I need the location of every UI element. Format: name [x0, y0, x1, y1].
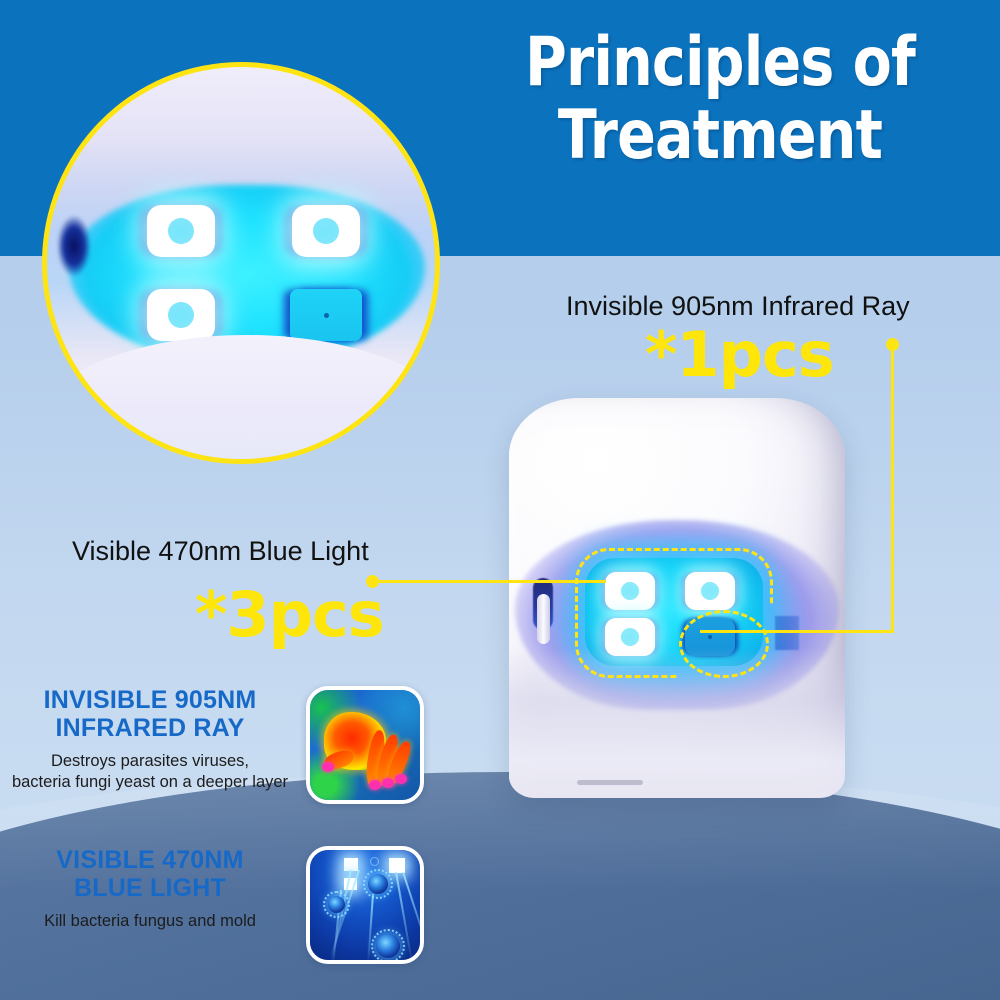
thermal-hand-thumbnail	[306, 686, 424, 804]
feature-card-infrared-title: INVISIBLE 905NM INFRARED RAY	[0, 686, 300, 742]
magnified-infrared-led	[290, 289, 362, 341]
infographic-canvas: Principles of Treatment Invisible 905nm …	[0, 0, 1000, 1000]
feature-card-infrared-description: Destroys parasites viruses, bacteria fun…	[0, 751, 300, 793]
feature-card-blue-light-title: VISIBLE 470NM BLUE LIGHT	[0, 846, 300, 902]
infrared-leader-line-horizontal	[700, 630, 894, 633]
magnified-blue-led-3	[147, 289, 215, 341]
feature-desc-line-1: Destroys parasites viruses,	[0, 751, 300, 772]
feature-card-blue-light: VISIBLE 470NM BLUE LIGHT Kill bacteria f…	[0, 846, 430, 964]
feature-card-infrared-text: INVISIBLE 905NM INFRARED RAY Destroys pa…	[0, 686, 306, 793]
page-title: Principles of Treatment	[502, 26, 939, 173]
feature-title-line-1: VISIBLE 470NM	[0, 846, 300, 874]
germ-particle-2	[368, 874, 388, 894]
germ-particle-1	[328, 896, 345, 913]
hand-nail-2	[382, 778, 394, 788]
hand-nail-thumb	[322, 762, 334, 772]
device-side-slot-right	[775, 616, 799, 650]
feature-desc-line-2: bacteria fungi yeast on a deeper layer	[0, 772, 300, 793]
feature-card-infrared: INVISIBLE 905NM INFRARED RAY Destroys pa…	[0, 686, 430, 804]
magnifier-side-notch	[57, 215, 91, 277]
thermal-hand-shape	[322, 706, 410, 798]
infrared-leader-line-vertical	[891, 344, 894, 632]
magnified-blue-led-1	[147, 205, 215, 257]
blue-light-callout-label: Visible 470nm Blue Light	[72, 536, 369, 567]
infrared-led-highlight-outline	[679, 610, 769, 678]
feature-title-line-1: INVISIBLE 905NM	[0, 686, 300, 714]
lens-flare-icon	[370, 857, 379, 866]
hand-nail-3	[395, 774, 407, 784]
magnified-led-panel-inset	[42, 62, 440, 464]
feature-card-blue-light-text: VISIBLE 470NM BLUE LIGHT Kill bacteria f…	[0, 846, 306, 932]
treatment-device	[497, 398, 857, 816]
feature-title-line-2: INFRARED RAY	[0, 714, 300, 742]
blue-light-leader-dot	[366, 575, 379, 588]
device-side-stick	[537, 594, 550, 644]
blue-lamp-3	[389, 858, 405, 873]
hand-nail-1	[369, 780, 381, 790]
blue-light-callout-count: *3pcs	[195, 578, 384, 651]
feature-card-blue-light-description: Kill bacteria fungus and mold	[0, 911, 300, 932]
blue-light-background	[310, 850, 420, 960]
magnified-blue-led-2	[292, 205, 360, 257]
feature-desc-line-1: Kill bacteria fungus and mold	[0, 911, 300, 932]
light-ray	[402, 872, 424, 954]
infrared-leader-dot	[886, 338, 899, 351]
germ-particle-3	[376, 934, 400, 958]
magnifier-device-lip	[42, 335, 440, 464]
blue-light-leader-line	[372, 580, 606, 583]
infrared-callout-count: *1pcs	[645, 318, 834, 391]
feature-title-line-2: BLUE LIGHT	[0, 874, 300, 902]
device-base-seam	[577, 780, 643, 785]
blue-light-germs-thumbnail	[306, 846, 424, 964]
